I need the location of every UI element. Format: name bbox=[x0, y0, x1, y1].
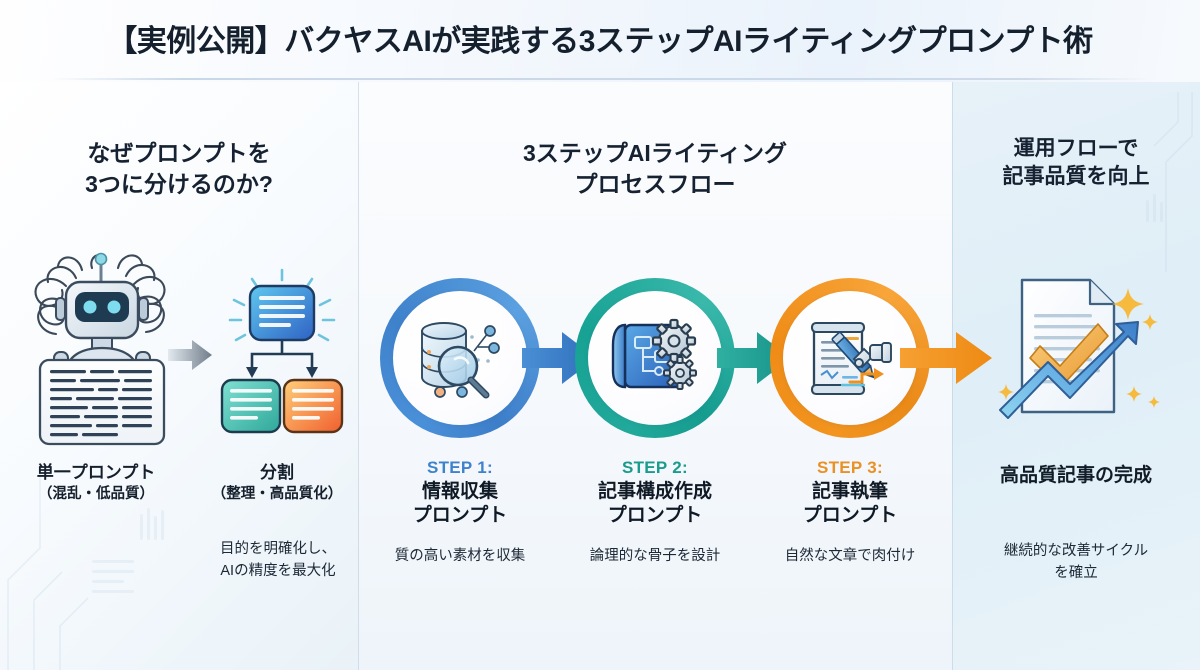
left-panel-note: 目的を明確化し、 AIの精度を最大化 bbox=[198, 538, 358, 583]
before-label: 単一プロンプト bbox=[6, 462, 186, 484]
step-3-number: STEP 3: bbox=[750, 458, 950, 478]
mid-heading-line2: プロセスフロー bbox=[358, 169, 952, 200]
after-sublabel: （整理・高品質化） bbox=[196, 485, 358, 505]
confused-robot-icon bbox=[22, 248, 182, 448]
step-2-number: STEP 2: bbox=[555, 458, 755, 478]
after-caption: 分割 （整理・高品質化） bbox=[196, 462, 358, 505]
right-heading-line2: 記事品質を向上 bbox=[952, 163, 1200, 191]
result-note: 継続的な改善サイクル を確立 bbox=[962, 540, 1190, 585]
step-1-name: 情報収集 プロンプト bbox=[360, 480, 560, 528]
blueprint-gears-icon bbox=[607, 315, 703, 401]
step-2-icon-holder bbox=[588, 291, 722, 425]
step-3-name: 記事執筆 プロンプト bbox=[750, 480, 950, 528]
before-sublabel: （混乱・低品質） bbox=[6, 485, 186, 505]
step-2-description: 論理的な骨子を設計 bbox=[555, 544, 755, 565]
left-note-line1: 目的を明確化し、 bbox=[198, 538, 358, 560]
right-panel-heading: 運用フローで 記事品質を向上 bbox=[952, 135, 1200, 191]
step-2-label: STEP 2: 記事構成作成 プロンプト 論理的な骨子を設計 bbox=[555, 458, 755, 565]
step-3-label: STEP 3: 記事執筆 プロンプト 自然な文章で肉付け bbox=[750, 458, 950, 565]
document-check-growth-arrow-icon bbox=[986, 262, 1174, 442]
right-heading-line1: 運用フローで bbox=[952, 135, 1200, 163]
step-3-name-line2: プロンプト bbox=[750, 504, 950, 528]
header-divider-rule bbox=[50, 78, 1150, 80]
database-magnifier-icon bbox=[412, 315, 508, 401]
step-3-name-line1: 記事執筆 bbox=[750, 480, 950, 504]
page-title: 【実例公開】バクヤスAIが実践する3ステップAIライティングプロンプト術 bbox=[0, 16, 1200, 60]
scroll-pen-robot-arm-icon bbox=[802, 315, 898, 401]
result-note-line2: を確立 bbox=[962, 562, 1190, 584]
before-caption: 単一プロンプト （混乱・低品質） bbox=[6, 462, 186, 505]
left-heading-line1: なぜプロンプトを bbox=[0, 138, 358, 169]
step-1-icon-holder bbox=[393, 291, 527, 425]
step-1-number: STEP 1: bbox=[360, 458, 560, 478]
infographic-canvas: 【実例公開】バクヤスAIが実践する3ステップAIライティングプロンプト術 bbox=[0, 0, 1200, 670]
split-cards-diagram-icon bbox=[212, 268, 352, 448]
step-2-name: 記事構成作成 プロンプト bbox=[555, 480, 755, 528]
result-title: 高品質記事の完成 bbox=[952, 460, 1200, 487]
result-note-line1: 継続的な改善サイクル bbox=[962, 540, 1190, 562]
step-2-name-line2: プロンプト bbox=[555, 504, 755, 528]
step-1-circle[interactable] bbox=[380, 278, 540, 438]
left-note-line2: AIの精度を最大化 bbox=[198, 560, 358, 582]
step-1-label: STEP 1: 情報収集 プロンプト 質の高い素材を収集 bbox=[360, 458, 560, 565]
header-banner: 【実例公開】バクヤスAIが実践する3ステップAIライティングプロンプト術 bbox=[0, 0, 1200, 82]
step-2-name-line1: 記事構成作成 bbox=[555, 480, 755, 504]
step-1-name-line1: 情報収集 bbox=[360, 480, 560, 504]
step-2-circle[interactable] bbox=[575, 278, 735, 438]
step-1-description: 質の高い素材を収集 bbox=[360, 544, 560, 565]
left-heading-line2: 3つに分けるのか? bbox=[0, 169, 358, 200]
step-3-description: 自然な文章で肉付け bbox=[750, 544, 950, 565]
step-1-name-line2: プロンプト bbox=[360, 504, 560, 528]
left-panel-heading: なぜプロンプトを 3つに分けるのか? bbox=[0, 138, 358, 199]
after-label: 分割 bbox=[196, 462, 358, 484]
mid-heading-line1: 3ステップAIライティング bbox=[358, 138, 952, 169]
mid-panel-heading: 3ステップAIライティング プロセスフロー bbox=[358, 138, 952, 199]
step-3-icon-holder bbox=[783, 291, 917, 425]
arrow-step3-to-result bbox=[900, 330, 992, 386]
gray-right-arrow-icon bbox=[168, 338, 212, 372]
